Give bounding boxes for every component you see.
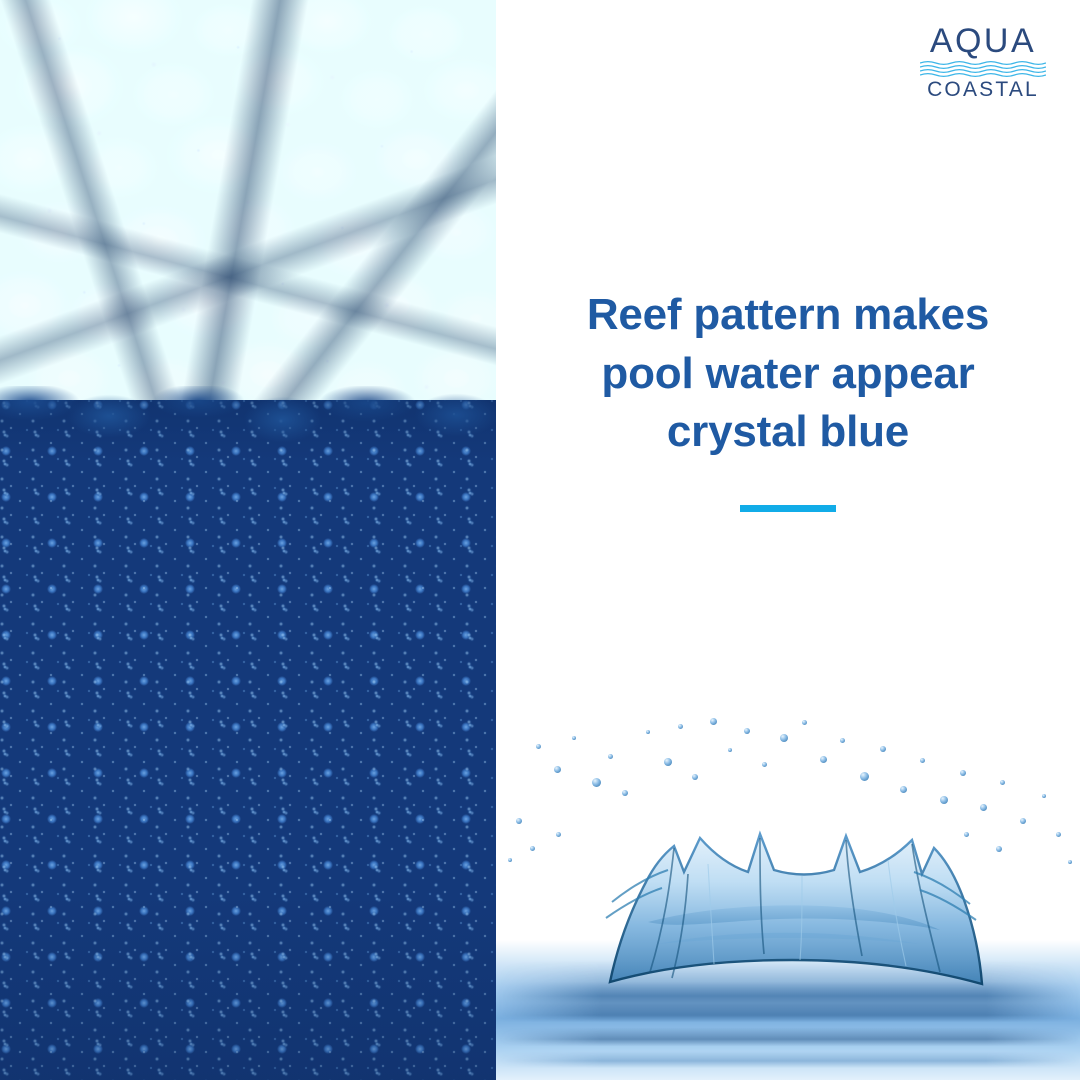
headline-line-2: pool water appear: [536, 345, 1040, 404]
headline-line-1: Reef pattern makes: [536, 286, 1040, 345]
gravel-texture-band: [0, 400, 496, 1080]
logo-wordmark-aqua: AQUA: [920, 24, 1046, 58]
texture-transition-seam: [0, 386, 496, 444]
reef-pattern-image-panel: [0, 0, 496, 1080]
headline-block: Reef pattern makes pool water appear cry…: [496, 286, 1080, 512]
page-title: Reef pattern makes pool water appear cry…: [496, 286, 1080, 462]
rock-texture-band: [0, 0, 496, 430]
accent-divider: [740, 505, 836, 512]
water-splash-image: [496, 700, 1080, 1080]
gravel-depth-shading: [0, 400, 496, 1080]
wave-lines-icon: [920, 60, 1046, 78]
social-post-canvas: AQUA COASTAL Reef pattern makes pool wat…: [0, 0, 1080, 1080]
brand-logo[interactable]: AQUA COASTAL: [920, 24, 1046, 100]
headline-line-3: crystal blue: [536, 403, 1040, 462]
logo-wordmark-coastal: COASTAL: [920, 79, 1046, 100]
splash-droplets: [496, 700, 1080, 1080]
rock-crevice-shadows: [0, 0, 496, 430]
